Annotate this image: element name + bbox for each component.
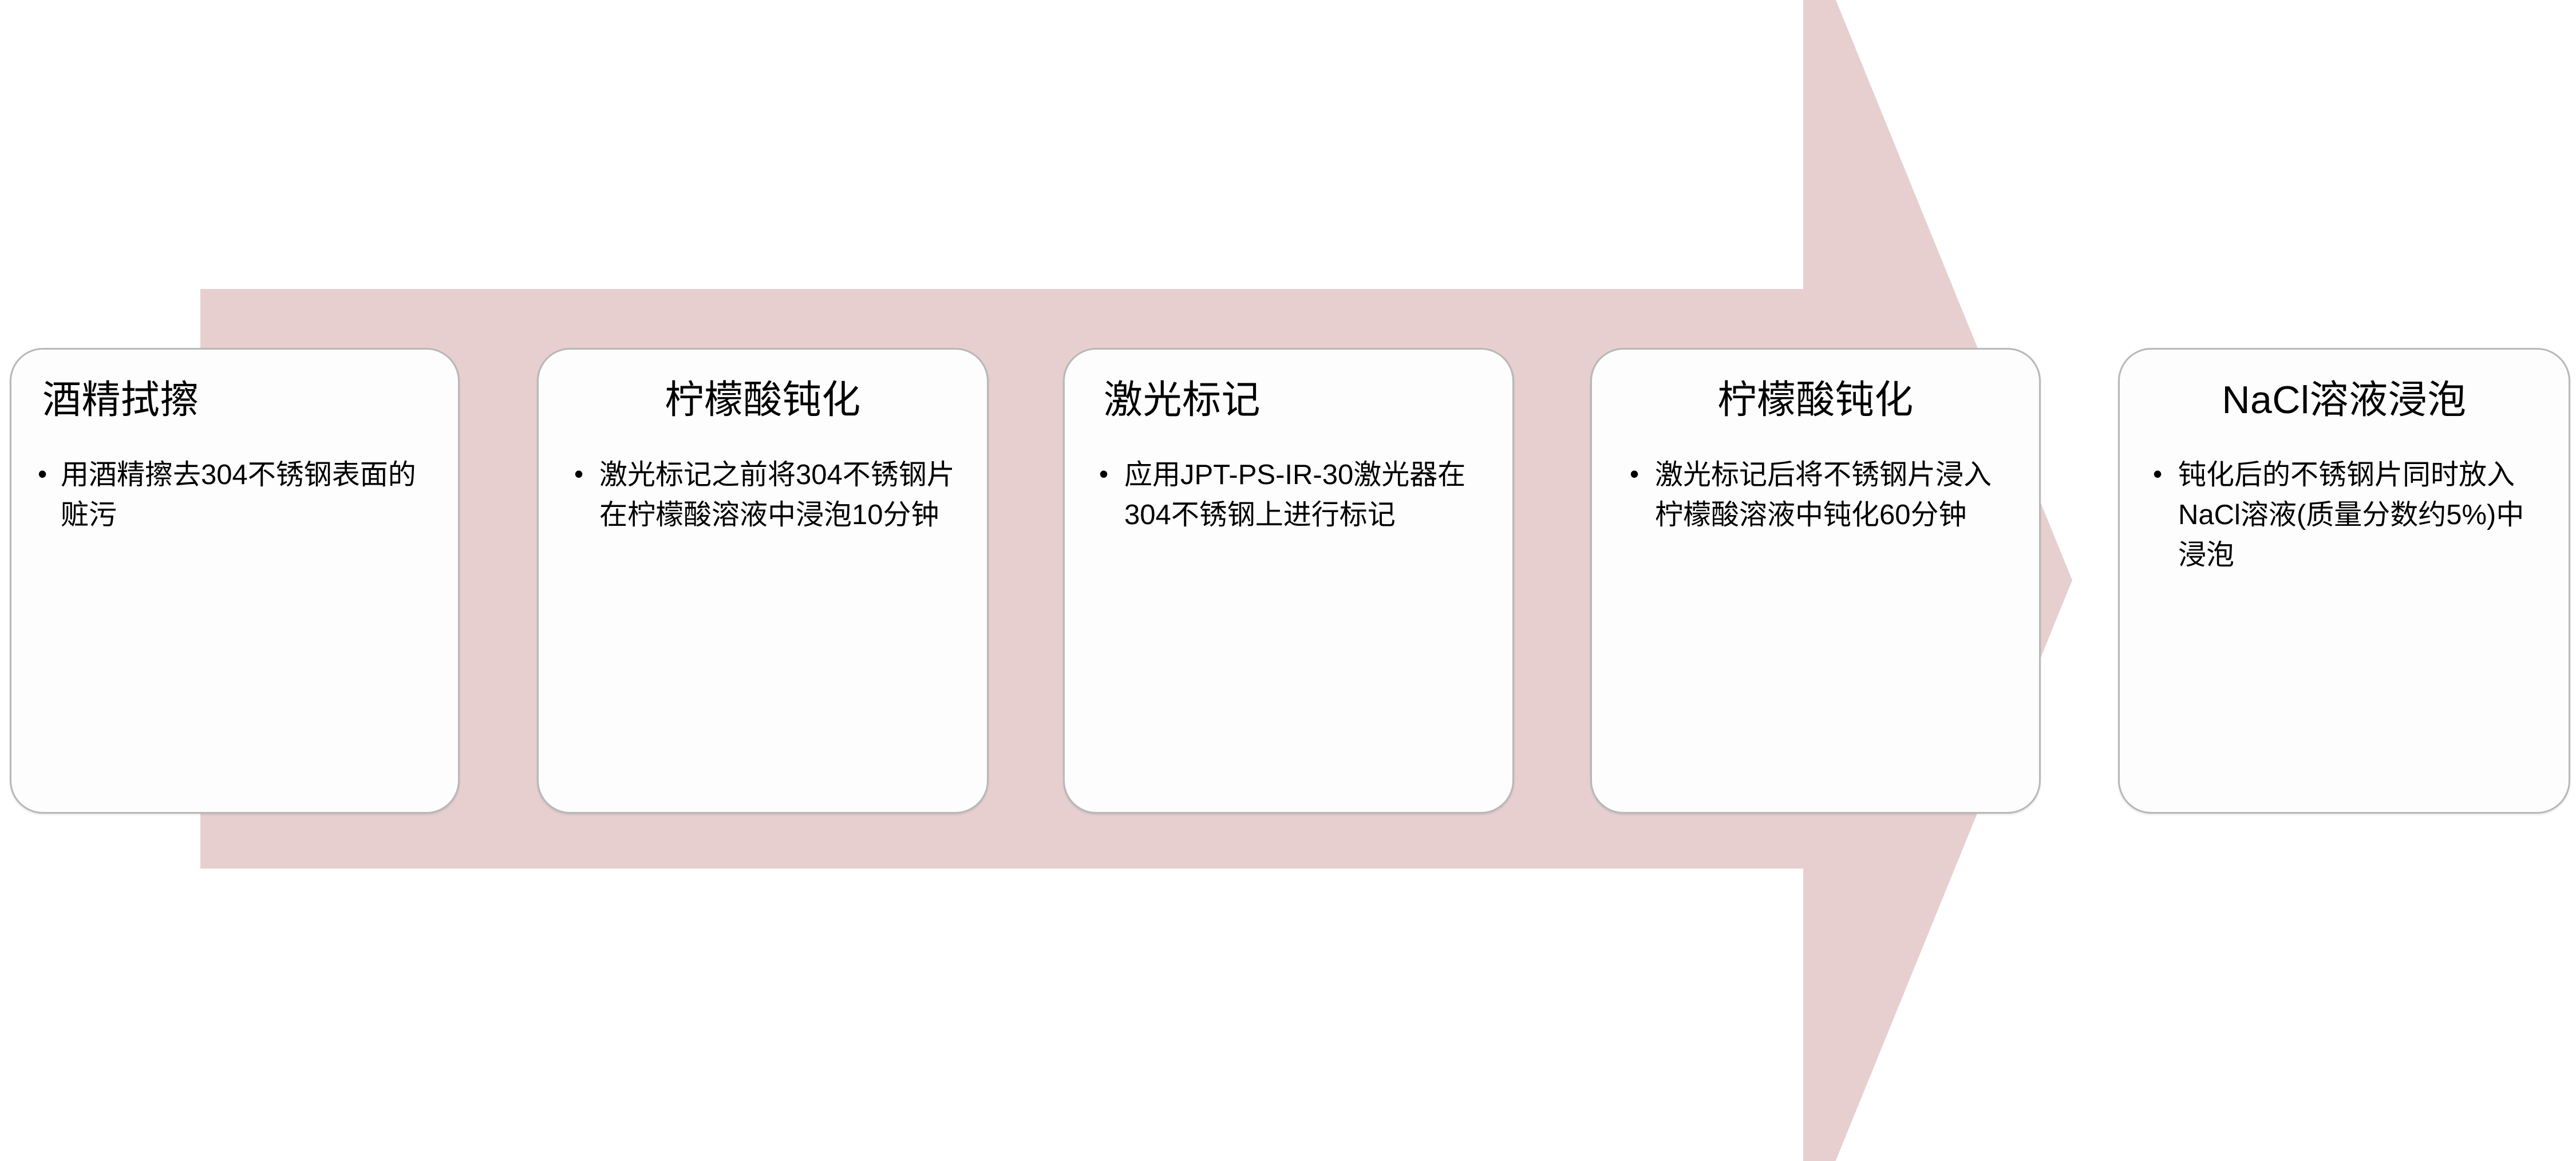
card-3-bullet-text: 应用JPT-PS-IR-30激光器在304不锈钢上进行标记 [1124,459,1465,530]
card-5-title: NaCl溶液浸泡 [2147,379,2541,421]
card-2-bullet-item: • 激光标记之前将304不锈钢片在柠檬酸溶液中浸泡10分钟 [568,455,957,535]
card-2-title: 柠檬酸钝化 [568,379,957,421]
bullet-dot-icon: • [2153,455,2162,493]
card-4-bullet-list: • 激光标记后将不锈钢片浸入柠檬酸溶液中钝化60分钟 [1624,455,2007,535]
card-1-title: 酒精拭擦 [32,379,437,421]
card-5-bullet-list: • 钝化后的不锈钢片同时放入NaCl溶液(质量分数约5%)中浸泡 [2147,455,2541,575]
process-step-card-1[interactable]: 酒精拭擦 • 用酒精擦去304不锈钢表面的赃污 [10,348,460,814]
process-step-card-2[interactable]: 柠檬酸钝化 • 激光标记之前将304不锈钢片在柠檬酸溶液中浸泡10分钟 [537,348,989,814]
process-step-card-5[interactable]: NaCl溶液浸泡 • 钝化后的不锈钢片同时放入NaCl溶液(质量分数约5%)中浸… [2118,348,2570,814]
card-3-title: 激光标记 [1093,379,1484,421]
card-4-bullet-item: • 激光标记后将不锈钢片浸入柠檬酸溶液中钝化60分钟 [1624,455,2007,535]
card-4-content: 柠檬酸钝化 • 激光标记后将不锈钢片浸入柠檬酸溶液中钝化60分钟 [1592,379,2039,536]
card-1-bullet-item: • 用酒精擦去304不锈钢表面的赃污 [32,455,437,535]
card-4-bullet-text: 激光标记后将不锈钢片浸入柠檬酸溶液中钝化60分钟 [1655,459,1992,530]
card-2-bullet-list: • 激光标记之前将304不锈钢片在柠檬酸溶液中浸泡10分钟 [568,455,957,535]
process-diagram-canvas: 酒精拭擦 • 用酒精擦去304不锈钢表面的赃污 柠檬酸钝化 • 激光标记之前将3… [0,0,2576,1161]
card-3-bullet-list: • 应用JPT-PS-IR-30激光器在304不锈钢上进行标记 [1093,455,1484,535]
card-1-content: 酒精拭擦 • 用酒精擦去304不锈钢表面的赃污 [11,379,458,536]
card-5-bullet-text: 钝化后的不锈钢片同时放入NaCl溶液(质量分数约5%)中浸泡 [2178,459,2524,570]
bullet-dot-icon: • [574,455,583,493]
bullet-dot-icon: • [38,455,47,493]
card-3-content: 激光标记 • 应用JPT-PS-IR-30激光器在304不锈钢上进行标记 [1065,379,1512,536]
card-2-content: 柠檬酸钝化 • 激光标记之前将304不锈钢片在柠檬酸溶液中浸泡10分钟 [539,379,987,536]
card-1-bullet-list: • 用酒精擦去304不锈钢表面的赃污 [32,455,437,535]
card-2-bullet-text: 激光标记之前将304不锈钢片在柠檬酸溶液中浸泡10分钟 [599,459,955,530]
bullet-dot-icon: • [1099,455,1108,493]
card-1-bullet-text: 用酒精擦去304不锈钢表面的赃污 [61,459,416,530]
process-step-card-4[interactable]: 柠檬酸钝化 • 激光标记后将不锈钢片浸入柠檬酸溶液中钝化60分钟 [1590,348,2041,814]
card-5-bullet-item: • 钝化后的不锈钢片同时放入NaCl溶液(质量分数约5%)中浸泡 [2147,455,2541,575]
card-5-content: NaCl溶液浸泡 • 钝化后的不锈钢片同时放入NaCl溶液(质量分数约5%)中浸… [2120,379,2569,575]
process-step-card-3[interactable]: 激光标记 • 应用JPT-PS-IR-30激光器在304不锈钢上进行标记 [1063,348,1514,814]
card-4-title: 柠檬酸钝化 [1624,379,2007,421]
card-3-bullet-item: • 应用JPT-PS-IR-30激光器在304不锈钢上进行标记 [1093,455,1484,535]
bullet-dot-icon: • [1630,455,1639,493]
